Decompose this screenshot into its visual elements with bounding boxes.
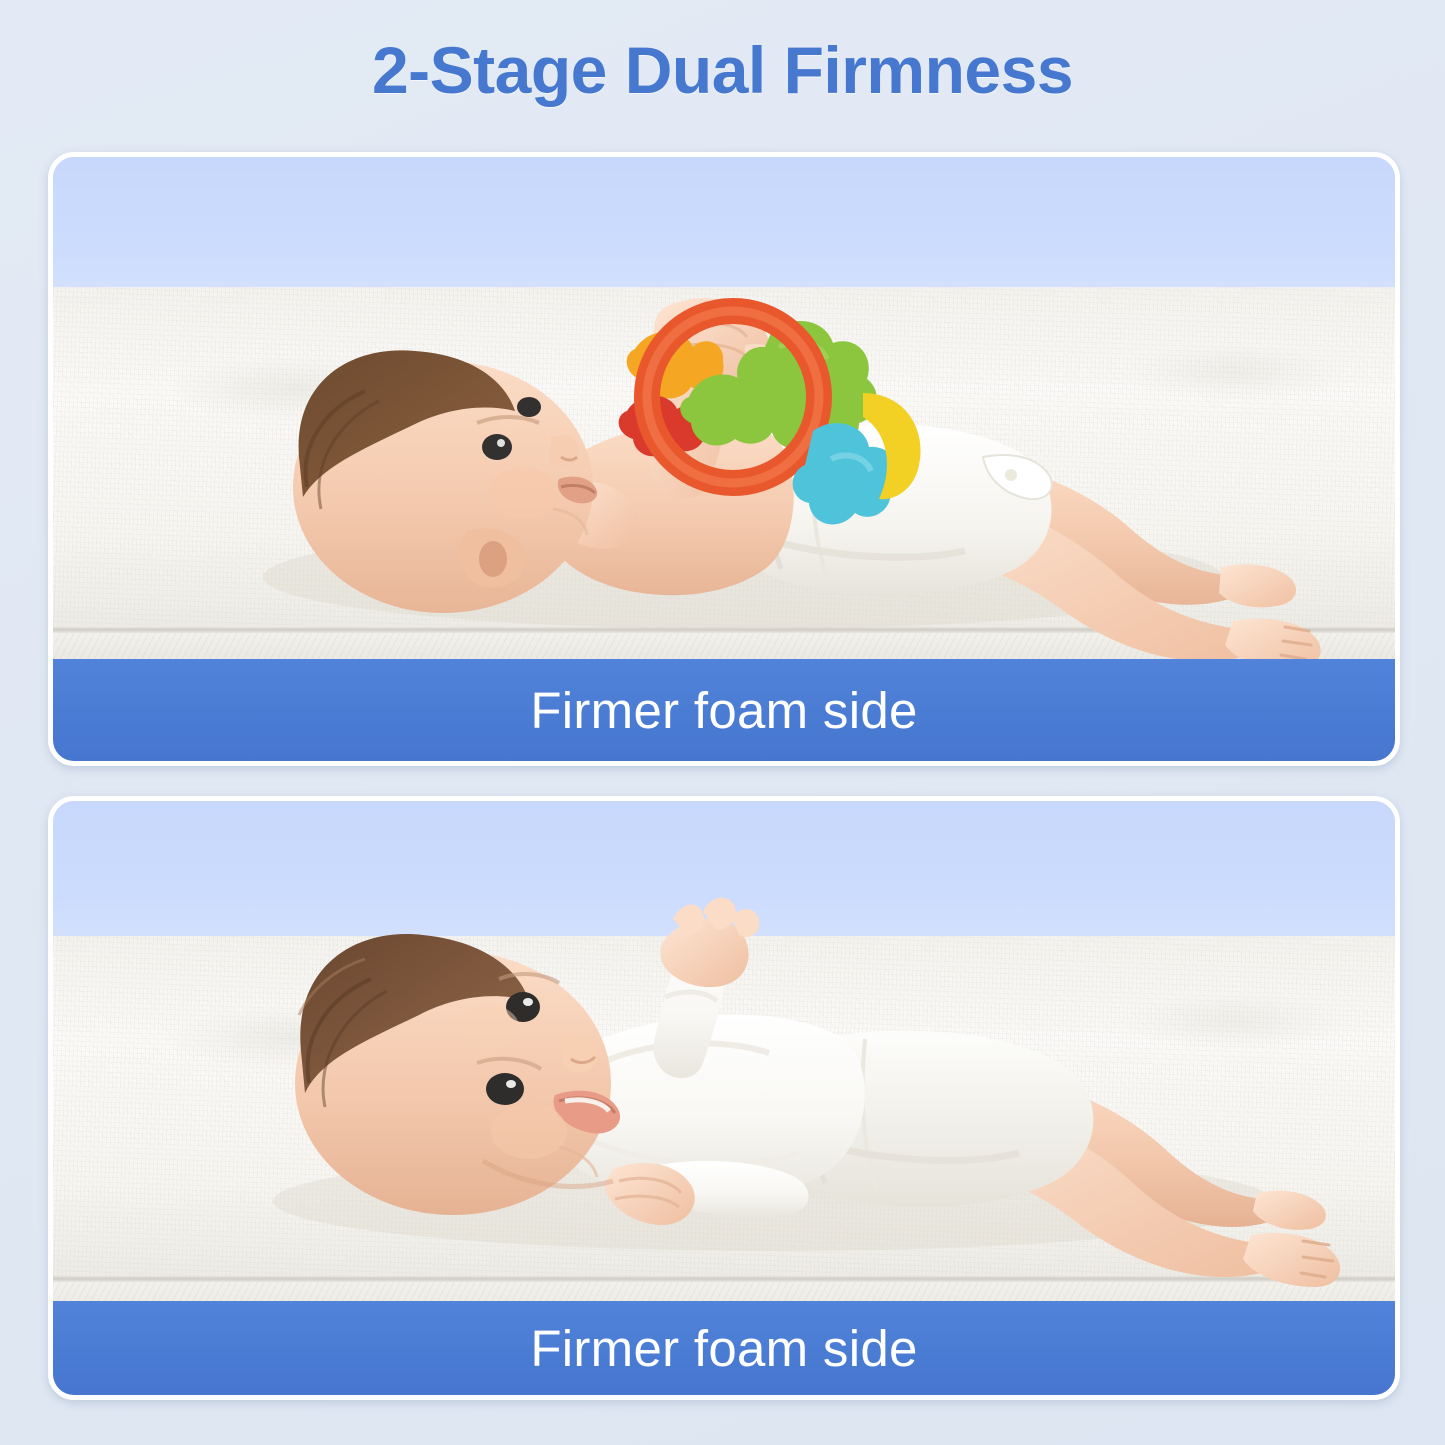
panel-2-photo-backdrop bbox=[53, 801, 1395, 936]
panel-1-caption-bar: Firmer foam side bbox=[53, 659, 1395, 761]
panel-1-mattress-surface bbox=[53, 287, 1395, 627]
panel-2-scene: Firmer foam side bbox=[53, 801, 1395, 1395]
page-title-container: 2-Stage Dual Firmness bbox=[0, 0, 1445, 140]
infographic-page: 2-Stage Dual Firmness bbox=[0, 0, 1445, 1445]
panel-1-mattress-texture bbox=[53, 287, 1395, 627]
panel-2-mattress-surface bbox=[53, 936, 1395, 1276]
product-panel-firmer-side-bottom: Firmer foam side bbox=[48, 796, 1400, 1400]
product-panel-firmer-side-top: Firmer foam side bbox=[48, 152, 1400, 766]
panel-2-caption-text: Firmer foam side bbox=[530, 1319, 917, 1378]
panel-2-caption-bar: Firmer foam side bbox=[53, 1301, 1395, 1395]
panel-1-caption-text: Firmer foam side bbox=[530, 681, 917, 740]
page-title: 2-Stage Dual Firmness bbox=[372, 32, 1073, 108]
panel-1-photo-backdrop bbox=[53, 157, 1395, 287]
panel-1-scene: Firmer foam side bbox=[53, 157, 1395, 761]
panel-2-mattress-texture bbox=[53, 936, 1395, 1276]
